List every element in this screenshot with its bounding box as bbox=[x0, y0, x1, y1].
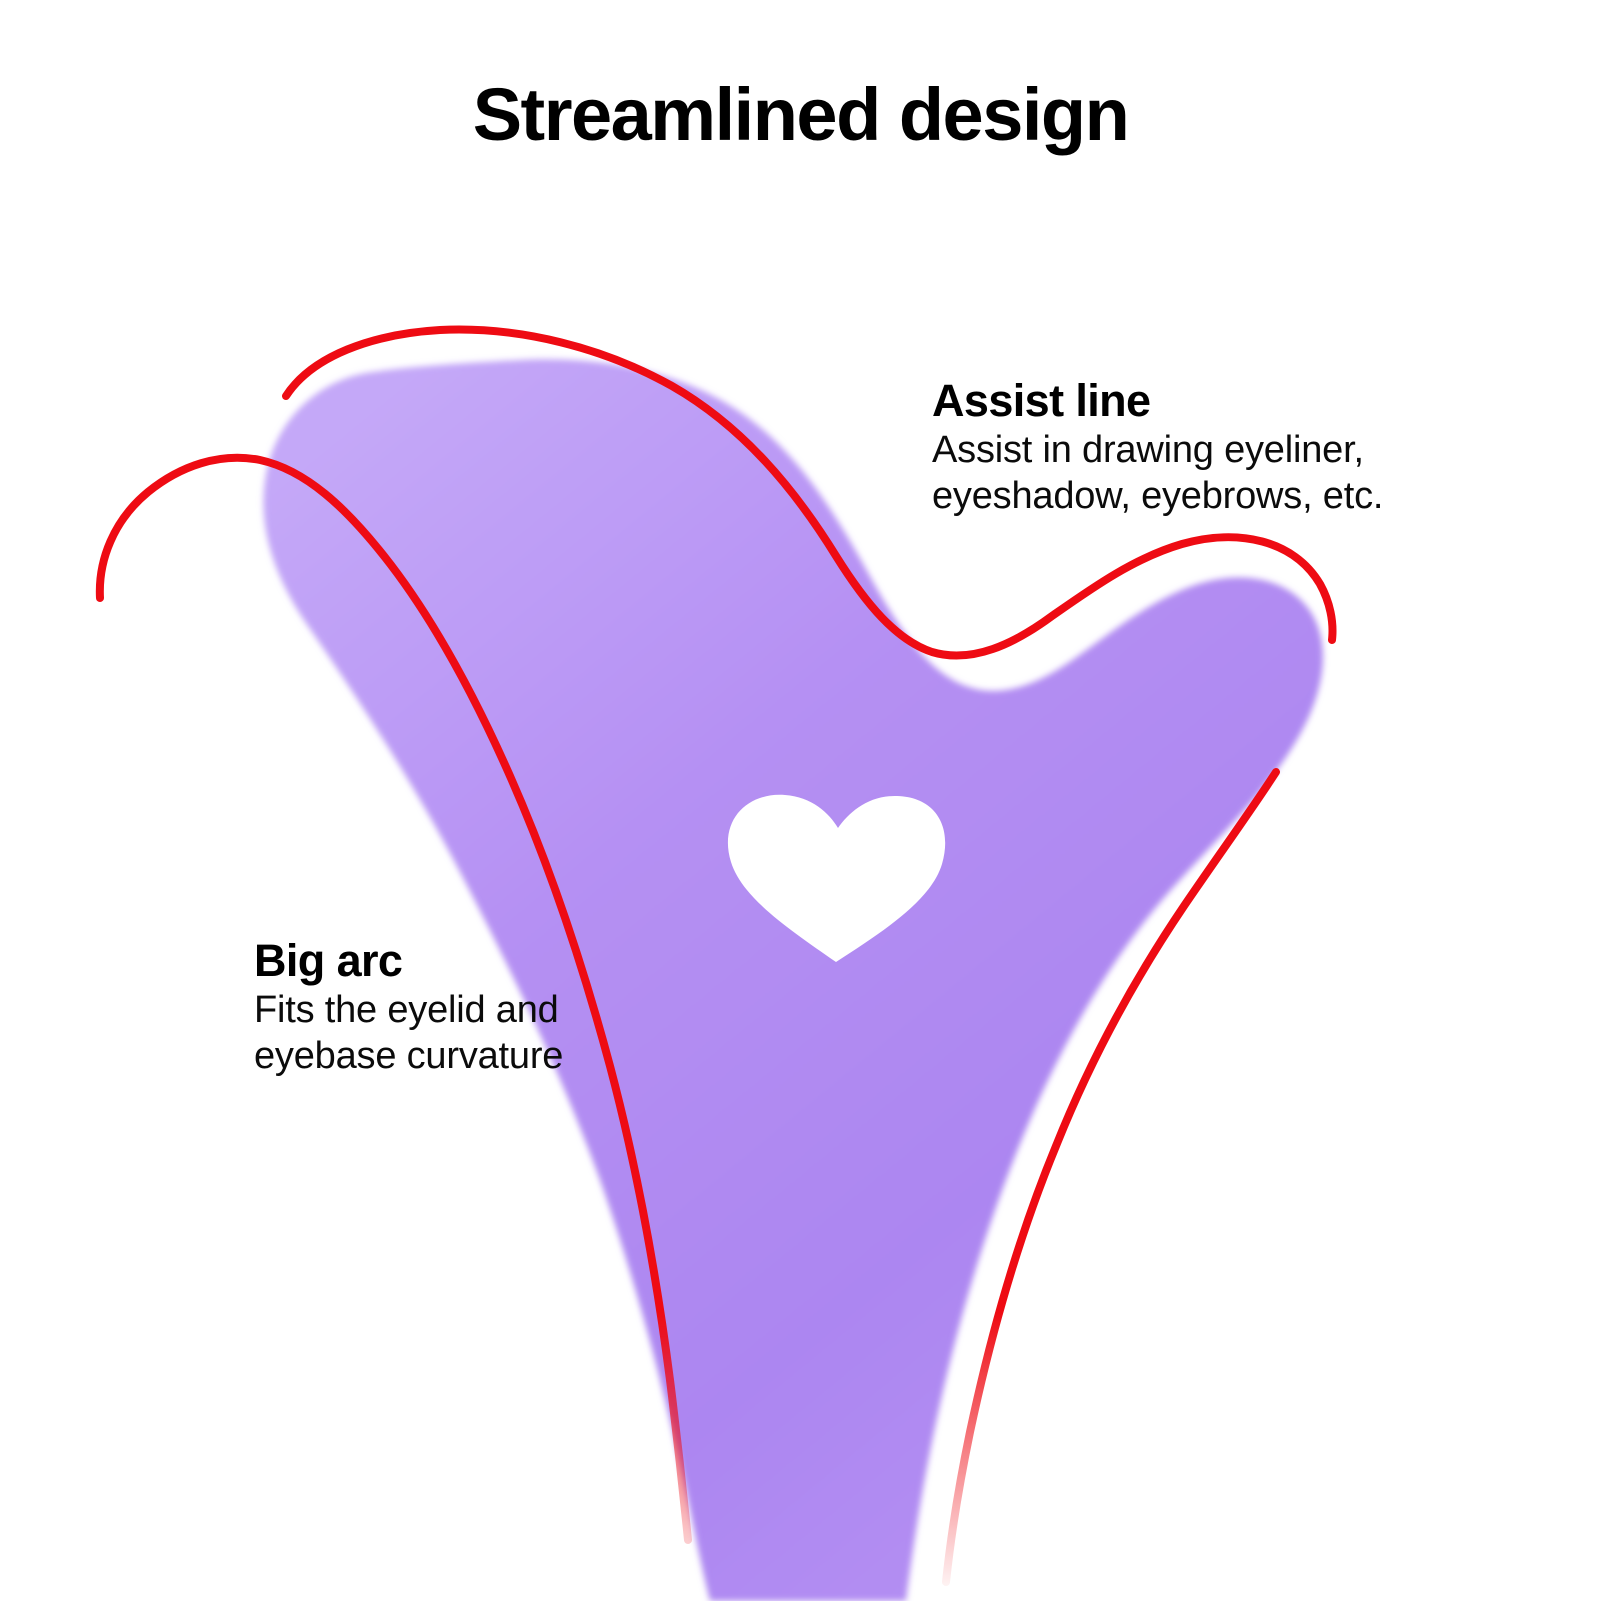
callout-assist-line-body: Assist in drawing eyeliner, eyeshadow, e… bbox=[932, 428, 1383, 520]
callout-assist-line-body-line-1: Assist in drawing eyeliner, bbox=[932, 428, 1383, 474]
callout-big-arc: Big arc Fits the eyelid and eyebase curv… bbox=[254, 938, 563, 1080]
callout-big-arc-body-line-1: Fits the eyelid and bbox=[254, 988, 563, 1034]
callout-assist-line-body-line-2: eyeshadow, eyebrows, etc. bbox=[932, 474, 1383, 520]
callout-assist-line: Assist line Assist in drawing eyeliner, … bbox=[932, 378, 1383, 520]
callout-assist-line-title: Assist line bbox=[932, 378, 1383, 424]
callout-big-arc-title: Big arc bbox=[254, 938, 563, 984]
callout-big-arc-body-line-2: eyebase curvature bbox=[254, 1034, 563, 1080]
infographic-page: Streamlined design bbox=[0, 0, 1601, 1601]
callout-big-arc-body: Fits the eyelid and eyebase curvature bbox=[254, 988, 563, 1080]
product-illustration bbox=[0, 0, 1601, 1601]
